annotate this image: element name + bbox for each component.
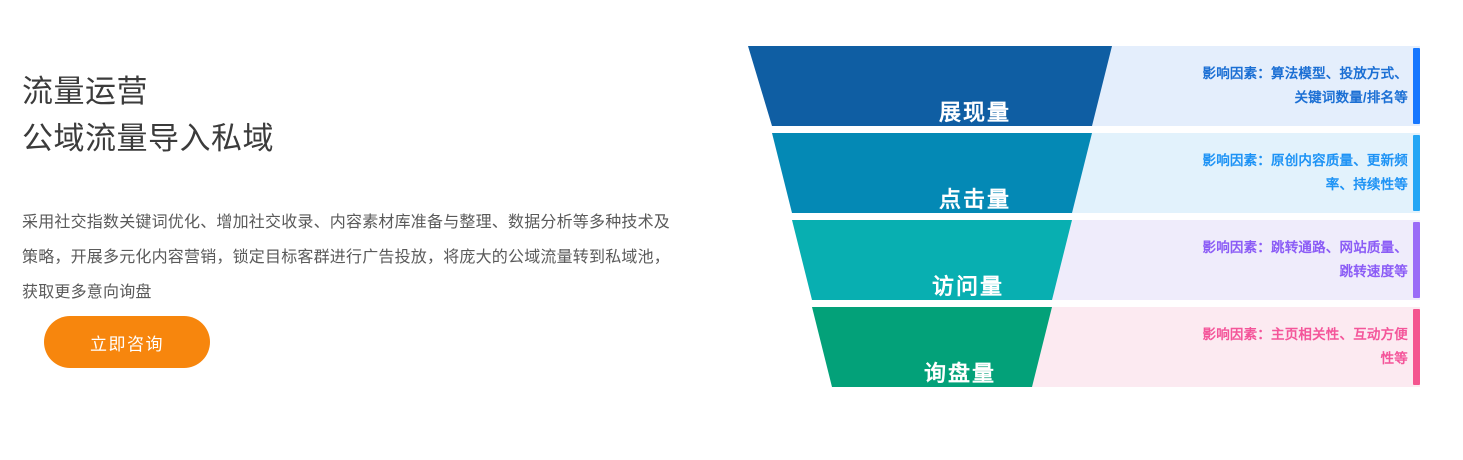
funnel-segment-3[interactable] (792, 220, 1072, 300)
conversion-funnel-diagram: 展现量 点击量 访问量 询盘量 影响因素：算法模型、投放方式、关键词数量/排名等… (740, 38, 1440, 408)
funnel-note-2: 影响因素：原创内容质量、更新频率、持续性等 (1196, 149, 1408, 197)
page-title: 流量运营 公域流量导入私域 (22, 68, 682, 162)
funnel-accent-bar-1 (1413, 48, 1420, 124)
funnel-segment-1[interactable] (748, 46, 1112, 126)
funnel-note-3: 影响因素：跳转通路、网站质量、跳转速度等 (1196, 236, 1408, 284)
consult-now-button[interactable]: 立即咨询 (44, 316, 210, 368)
funnel-note-1: 影响因素：算法模型、投放方式、关键词数量/排名等 (1196, 62, 1408, 110)
description-text: 采用社交指数关键词优化、增加社交收录、内容素材库准备与整理、数据分析等多种技术及… (22, 205, 682, 310)
funnel-accent-bar-3 (1413, 222, 1420, 298)
funnel-segment-4[interactable] (812, 307, 1052, 387)
funnel-segment-2[interactable] (772, 133, 1092, 213)
funnel-accent-bar-2 (1413, 135, 1420, 211)
funnel-accent-bar-4 (1413, 309, 1420, 385)
funnel-note-4: 影响因素：主页相关性、互动方便性等 (1196, 323, 1408, 371)
intro-section: 流量运营 公域流量导入私域 采用社交指数关键词优化、增加社交收录、内容素材库准备… (22, 0, 702, 460)
